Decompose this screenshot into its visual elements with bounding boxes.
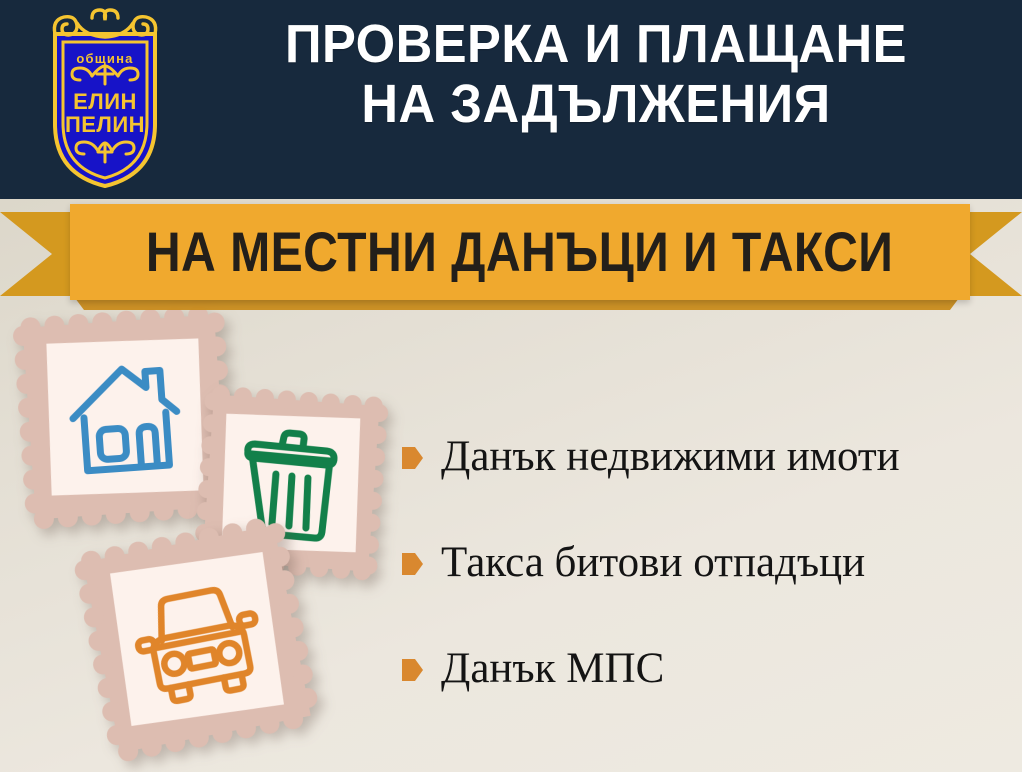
- list-item[interactable]: Данък недвижими имоти: [402, 424, 1012, 490]
- crest-name-line-1: ЕЛИН: [73, 89, 137, 114]
- poster-root: ПРОВЕРКА И ПЛАЩАНЕ НА ЗАДЪЛЖЕНИЯ община: [0, 0, 1022, 772]
- list-item-label: Такса битови отпадъци: [441, 539, 865, 587]
- arrow-bullet-icon: [402, 657, 423, 683]
- stamp-card-vehicle-tax: [67, 509, 327, 769]
- ribbon-subtitle: НА МЕСТНИ ДАНЪЦИ И ТАКСИ: [146, 222, 894, 282]
- ribbon-panel: НА МЕСТНИ ДАНЪЦИ И ТАКСИ: [70, 204, 970, 300]
- page-title: ПРОВЕРКА И ПЛАЩАНЕ НА ЗАДЪЛЖЕНИЯ: [211, 14, 982, 134]
- crest-shield-icon: община ЕЛИН ПЕЛИН: [30, 6, 180, 191]
- municipality-crest-logo: община ЕЛИН ПЕЛИН: [30, 6, 180, 191]
- list-item[interactable]: Данък МПС: [402, 636, 1012, 702]
- crest-name-line-2: ПЕЛИН: [65, 112, 145, 137]
- ribbon-banner: НА МЕСТНИ ДАНЪЦИ И ТАКСИ: [0, 198, 1022, 310]
- car-stamp-graphic: [67, 509, 327, 769]
- arrow-bullet-icon: [402, 551, 423, 577]
- services-list: Данък недвижими имоти Такса битови отпад…: [402, 424, 1012, 742]
- arrow-bullet-icon: [402, 445, 423, 471]
- list-item-label: Данък недвижими имоти: [441, 433, 900, 481]
- stamp-card-group: [0, 300, 420, 772]
- crest-municipality-label: община: [76, 51, 133, 66]
- list-item-label: Данък МПС: [441, 645, 664, 693]
- list-item[interactable]: Такса битови отпадъци: [402, 530, 1012, 596]
